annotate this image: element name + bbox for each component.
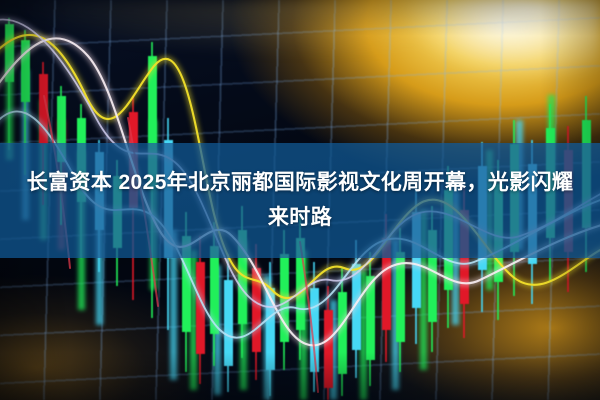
caption-title: 长富资本 2025年北京丽都国际影视文化周开幕，光影闪耀来时路 xyxy=(20,166,580,234)
stock-chart-banner: 长富资本 2025年北京丽都国际影视文化周开幕，光影闪耀来时路 xyxy=(0,0,600,400)
caption-band: 长富资本 2025年北京丽都国际影视文化周开幕，光影闪耀来时路 xyxy=(0,143,600,258)
